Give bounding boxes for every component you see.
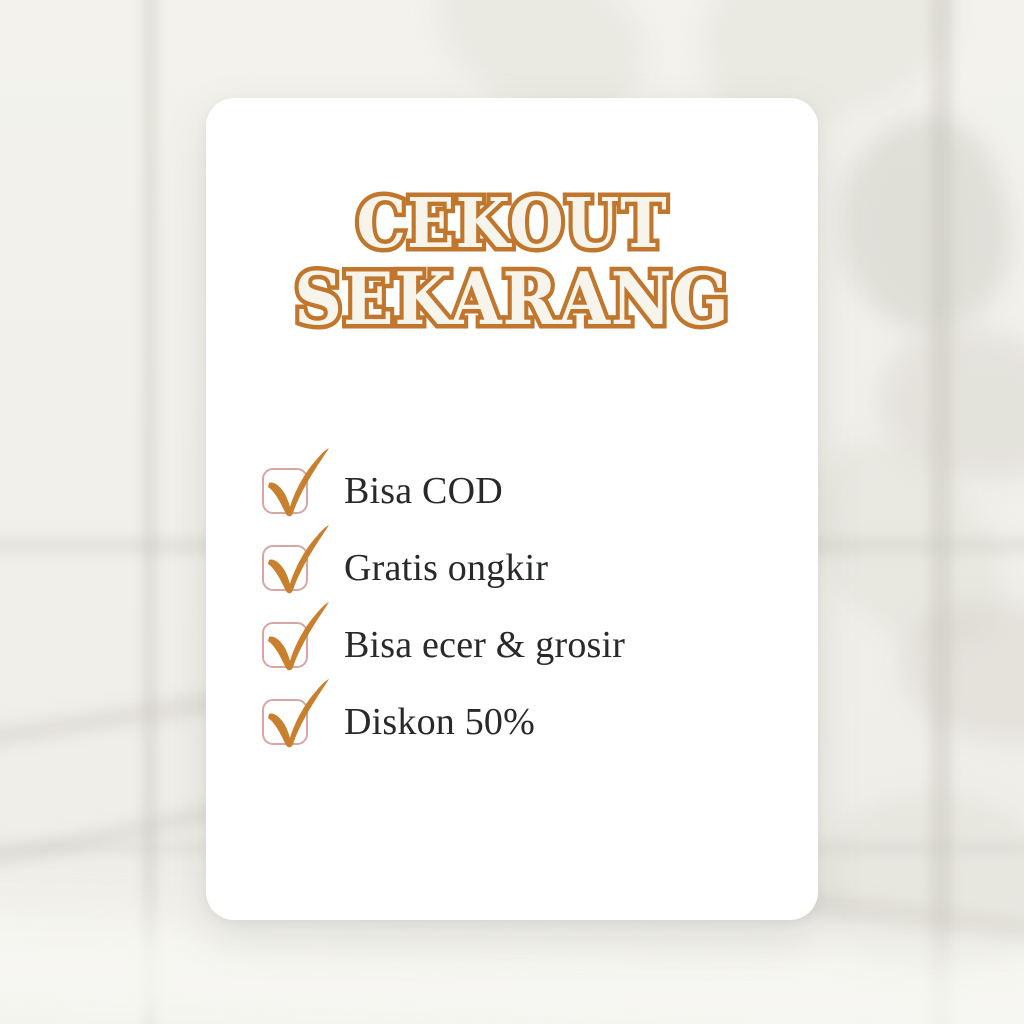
poster-canvas: CEKOUT SEKARANG Bisa COD: [0, 0, 1024, 1024]
checkbox-square-icon: [262, 545, 308, 591]
checkbox-3[interactable]: [262, 622, 308, 668]
list-item[interactable]: Gratis ongkir: [262, 529, 788, 606]
list-item[interactable]: Bisa ecer & grosir: [262, 606, 788, 683]
list-item-label: Diskon 50%: [344, 700, 535, 744]
window-mullion-vertical-left: [142, 0, 158, 1024]
list-item-label: Bisa COD: [344, 469, 503, 513]
checkbox-square-icon: [262, 622, 308, 668]
checkbox-square-icon: [262, 699, 308, 745]
checkbox-4[interactable]: [262, 699, 308, 745]
list-item-label: Gratis ongkir: [344, 546, 548, 590]
checkbox-1[interactable]: [262, 468, 308, 514]
promo-card: CEKOUT SEKARANG Bisa COD: [206, 98, 818, 920]
list-item[interactable]: Diskon 50%: [262, 683, 788, 760]
benefits-checklist: Bisa COD Gratis ongkir Bis: [262, 452, 788, 760]
title-line-1: CEKOUT: [230, 192, 793, 258]
list-item-label: Bisa ecer & grosir: [344, 623, 625, 667]
list-item[interactable]: Bisa COD: [262, 452, 788, 529]
checkbox-2[interactable]: [262, 545, 308, 591]
title-line-2: SEKARANG: [230, 264, 793, 334]
checkbox-square-icon: [262, 468, 308, 514]
page-title: CEKOUT SEKARANG: [206, 192, 818, 334]
